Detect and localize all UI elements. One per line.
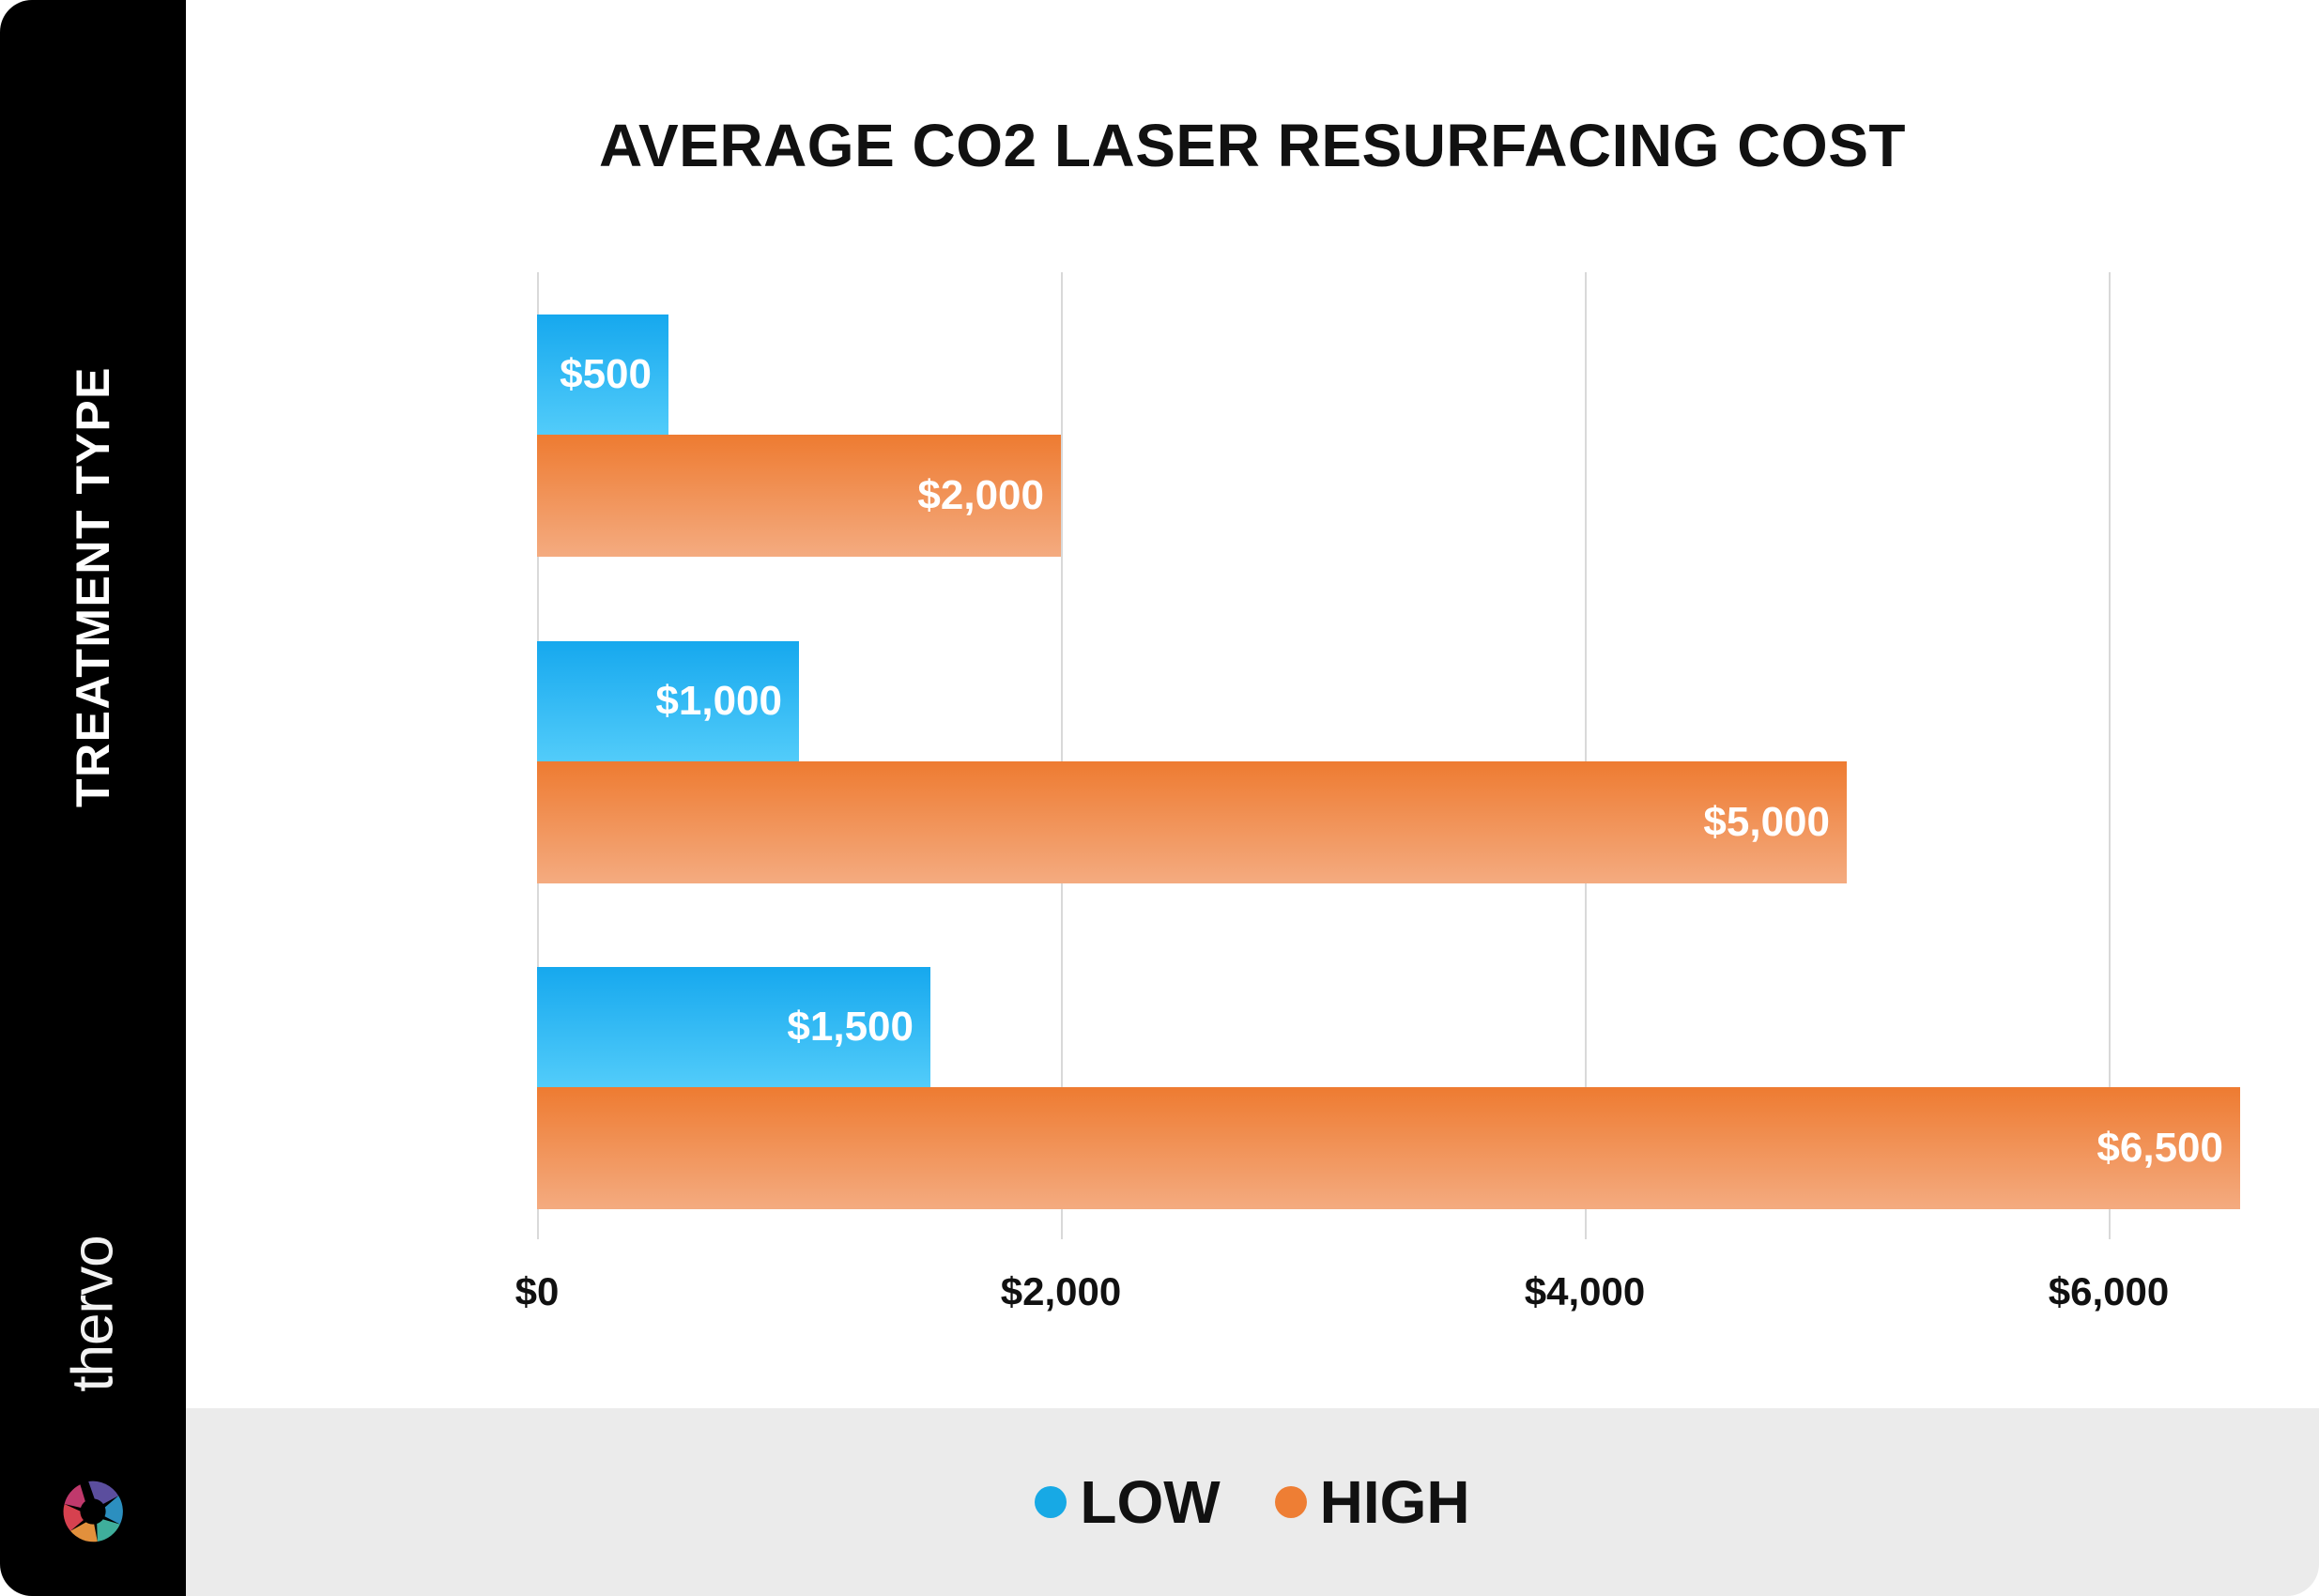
sidebar: TREATMENT TYPE thervo xyxy=(0,0,186,1596)
thervo-aperture-icon xyxy=(55,1474,131,1549)
bar-group-face-and-neck: FACE & NECK $1,500 $6,500 xyxy=(537,967,2242,1209)
bar-low-spot-treatment[interactable]: $500 xyxy=(537,315,668,435)
legend-label-low: LOW xyxy=(1080,1467,1220,1537)
chart-card: AVERAGE CO2 LASER RESURFACING COST SPOT … xyxy=(186,0,2319,1596)
bar-value-low-spot-treatment: $500 xyxy=(560,351,668,398)
legend-dot-low-icon xyxy=(1035,1486,1067,1518)
bar-high-face-and-neck[interactable]: $6,500 xyxy=(537,1087,2240,1209)
brand-wordmark: thervo xyxy=(0,1159,186,1468)
x-tick-label-4000: $4,000 xyxy=(1525,1269,1645,1314)
brand-name-label: thervo xyxy=(59,1235,126,1391)
chart-title: AVERAGE CO2 LASER RESURFACING COST xyxy=(186,111,2319,180)
x-tick-label-2000: $2,000 xyxy=(1001,1269,1121,1314)
brand-block: thervo xyxy=(0,1159,186,1562)
bar-value-low-face-and-neck: $1,500 xyxy=(787,1004,930,1051)
bar-group-full-face: FULL FACE $1,000 $5,000 xyxy=(537,641,2242,883)
bar-high-spot-treatment[interactable]: $2,000 xyxy=(537,435,1061,557)
plot-area: SPOT TREATMENT $500 $2,000 FULL FACE $1,… xyxy=(537,272,2242,1239)
bar-value-high-full-face: $5,000 xyxy=(1703,799,1847,846)
bar-high-full-face[interactable]: $5,000 xyxy=(537,761,1847,883)
bar-low-full-face[interactable]: $1,000 xyxy=(537,641,799,761)
bar-value-low-full-face: $1,000 xyxy=(655,678,799,725)
bar-value-high-face-and-neck: $6,500 xyxy=(2096,1125,2240,1172)
x-tick-label-6000: $6,000 xyxy=(2049,1269,2169,1314)
y-axis-title-label: TREATMENT TYPE xyxy=(66,366,120,807)
x-tick-label-0: $0 xyxy=(515,1269,560,1314)
legend-item-low[interactable]: LOW xyxy=(1035,1467,1220,1537)
infographic-root: TREATMENT TYPE thervo xyxy=(0,0,2319,1596)
legend-label-high: HIGH xyxy=(1320,1467,1470,1537)
y-axis-title: TREATMENT TYPE xyxy=(0,0,186,1174)
legend-dot-high-icon xyxy=(1275,1486,1307,1518)
bar-value-high-spot-treatment: $2,000 xyxy=(917,472,1061,519)
bar-low-face-and-neck[interactable]: $1,500 xyxy=(537,967,930,1087)
bar-group-spot-treatment: SPOT TREATMENT $500 $2,000 xyxy=(537,315,2242,557)
legend-item-high[interactable]: HIGH xyxy=(1275,1467,1470,1537)
chart-legend: LOW HIGH xyxy=(186,1408,2319,1596)
